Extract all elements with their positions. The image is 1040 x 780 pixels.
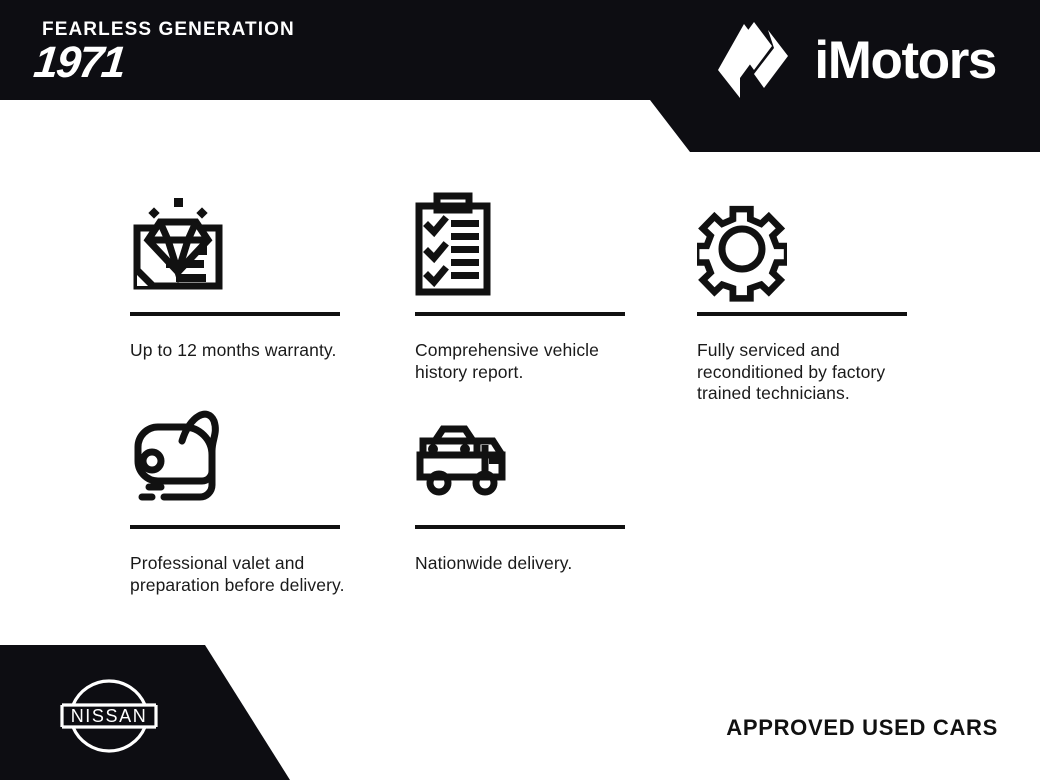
nissan-wordmark: NISSAN — [71, 706, 148, 726]
divider-rule — [697, 312, 907, 316]
feature-caption: Nationwide delivery. — [415, 553, 630, 575]
promo-graphic: FEARLESS GENERATION 1971 iMotors — [0, 0, 1040, 780]
feature-item-serviced: Fully serviced and reconditioned by fact… — [697, 190, 912, 405]
car-transporter-truck-icon — [415, 395, 630, 507]
warranty-certificate-diamond-icon — [130, 190, 345, 302]
feature-caption: Fully serviced and reconditioned by fact… — [697, 340, 912, 405]
feature-caption: Comprehensive vehicle history report. — [415, 340, 630, 383]
nissan-logo-icon: NISSAN — [48, 672, 170, 760]
divider-rule — [130, 312, 340, 316]
feature-caption: Up to 12 months warranty. — [130, 340, 345, 362]
approved-used-cars-label: APPROVED USED CARS — [726, 715, 998, 741]
divider-rule — [415, 525, 625, 529]
feature-item-history-report: Comprehensive vehicle history report. — [415, 190, 630, 383]
feature-item-delivery: Nationwide delivery. — [415, 395, 630, 575]
feature-item-warranty: Up to 12 months warranty. — [130, 190, 345, 362]
vacuum-cleaner-icon — [130, 395, 345, 507]
clipboard-checklist-icon — [415, 190, 630, 302]
feature-caption: Professional valet and preparation befor… — [130, 553, 345, 596]
gear-icon — [697, 190, 912, 302]
feature-item-valet: Professional valet and preparation befor… — [130, 395, 345, 596]
divider-rule — [415, 312, 625, 316]
divider-rule — [130, 525, 340, 529]
